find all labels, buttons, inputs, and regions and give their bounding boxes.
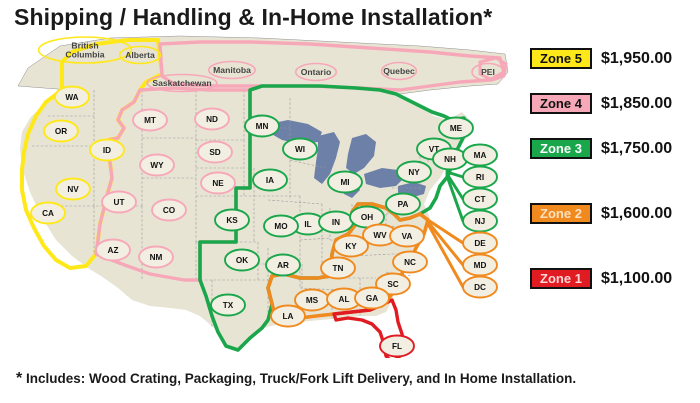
- state-label-ga: GA: [355, 288, 389, 309]
- callout-label-group: MARICTNJDEMDDC: [463, 145, 497, 298]
- state-abbr-label: NE: [212, 179, 224, 188]
- callout-label-dc: DC: [463, 277, 497, 298]
- state-abbr-label: ND: [206, 115, 218, 124]
- state-abbr-label: IN: [332, 218, 340, 227]
- state-abbr-label: MA: [474, 151, 487, 160]
- callout-label-nj: NJ: [463, 211, 497, 232]
- state-abbr-label: VA: [402, 232, 413, 241]
- state-label-ne: NE: [201, 173, 235, 194]
- state-abbr-label: NY: [408, 168, 420, 177]
- state-abbr-label: ME: [450, 124, 463, 133]
- state-label-ok: OK: [225, 250, 259, 271]
- state-label-wi: WI: [283, 139, 317, 160]
- province-name-label: Quebec: [383, 66, 415, 76]
- state-abbr-label: TX: [223, 301, 234, 310]
- state-label-ks: KS: [215, 210, 249, 231]
- state-abbr-label: AZ: [108, 246, 119, 255]
- footnote-asterisk: *: [16, 370, 22, 387]
- state-label-in: IN: [319, 212, 353, 233]
- footnote: * Includes: Wood Crating, Packaging, Tru…: [16, 370, 576, 388]
- zone-price: $1,600.00: [601, 205, 672, 223]
- zone-swatch: Zone 1: [530, 268, 592, 289]
- callout-label-ct: CT: [463, 189, 497, 210]
- province-name-label: Ontario: [301, 67, 332, 77]
- footnote-text: Includes: Wood Crating, Packaging, Truck…: [26, 371, 576, 386]
- state-abbr-label: OR: [55, 127, 67, 136]
- zone-swatch: Zone 5: [530, 48, 592, 69]
- legend-row: Zone 3$1,750.00: [530, 138, 672, 159]
- callout-label-md: MD: [463, 255, 497, 276]
- state-abbr-label: MD: [474, 261, 487, 270]
- legend-row: Zone 1$1,100.00: [530, 268, 672, 289]
- province-name-label: PEI: [481, 67, 495, 77]
- province-name-label: Alberta: [125, 50, 155, 60]
- state-abbr-label: CT: [475, 195, 486, 204]
- state-label-ky: KY: [334, 236, 368, 257]
- state-abbr-label: OK: [236, 256, 248, 265]
- zone-price-legend: Zone 5$1,950.00Zone 4$1,850.00Zone 3$1,7…: [530, 40, 700, 310]
- state-label-az: AZ: [96, 240, 130, 261]
- shipping-zone-map: WAORIDNVCAMTWYUTCOAZNMNDSDNEMNWIMIIAILIN…: [0, 28, 520, 358]
- state-label-va: VA: [390, 226, 424, 247]
- state-label-wy: WY: [140, 155, 174, 176]
- legend-row: Zone 5$1,950.00: [530, 48, 672, 69]
- zone-price: $1,100.00: [601, 270, 672, 288]
- state-abbr-label: NM: [150, 253, 163, 262]
- state-abbr-label: PA: [398, 200, 409, 209]
- state-label-nh: NH: [433, 149, 467, 170]
- state-abbr-label: AR: [277, 261, 289, 270]
- zone-price: $1,950.00: [601, 50, 672, 68]
- province-name-label: Manitoba: [213, 65, 251, 75]
- state-label-ca: CA: [31, 203, 65, 224]
- state-abbr-label: AL: [339, 295, 350, 304]
- state-label-ia: IA: [253, 170, 287, 191]
- state-abbr-label: NH: [444, 155, 456, 164]
- state-label-me: ME: [439, 118, 473, 139]
- zone-price: $1,850.00: [601, 95, 672, 113]
- callout-label-ri: RI: [463, 167, 497, 188]
- state-abbr-label: TN: [333, 264, 344, 273]
- state-abbr-label: MT: [144, 116, 156, 125]
- state-label-mn: MN: [245, 116, 279, 137]
- state-label-id: ID: [90, 140, 124, 161]
- state-abbr-label: MN: [256, 122, 269, 131]
- state-label-or: OR: [44, 121, 78, 142]
- state-abbr-label: MI: [340, 178, 349, 187]
- zone-swatch: Zone 3: [530, 138, 592, 159]
- zone-price: $1,750.00: [601, 140, 672, 158]
- province-name-label: Columbia: [65, 50, 104, 60]
- state-abbr-label: NC: [404, 258, 416, 267]
- callout-leader-line: [428, 224, 463, 287]
- state-abbr-label: DC: [474, 283, 486, 292]
- province-name-label: Saskatchewan: [152, 78, 211, 88]
- state-abbr-label: CO: [163, 206, 176, 215]
- state-abbr-label: OH: [361, 213, 373, 222]
- state-abbr-label: RI: [476, 173, 484, 182]
- state-abbr-label: MO: [274, 222, 288, 231]
- state-label-la: LA: [271, 306, 305, 327]
- legend-row: Zone 4$1,850.00: [530, 93, 672, 114]
- callout-leader-line: [447, 176, 463, 221]
- state-label-tn: TN: [321, 258, 355, 279]
- state-abbr-label: KY: [345, 242, 357, 251]
- state-label-pa: PA: [386, 194, 420, 215]
- state-abbr-label: LA: [283, 312, 294, 321]
- state-abbr-label: UT: [114, 198, 125, 207]
- state-label-nd: ND: [195, 109, 229, 130]
- state-abbr-label: SC: [387, 280, 398, 289]
- callout-label-de: DE: [463, 233, 497, 254]
- state-abbr-label: ID: [103, 146, 111, 155]
- state-label-mt: MT: [133, 110, 167, 131]
- state-abbr-label: KS: [226, 216, 238, 225]
- state-abbr-label: IA: [266, 176, 274, 185]
- state-abbr-label: NJ: [475, 217, 485, 226]
- state-label-nv: NV: [56, 179, 90, 200]
- state-abbr-label: NV: [67, 185, 79, 194]
- state-abbr-label: WY: [150, 161, 164, 170]
- state-label-ar: AR: [266, 255, 300, 276]
- state-abbr-label: SD: [209, 148, 220, 157]
- state-label-wa: WA: [55, 87, 89, 108]
- state-abbr-label: IL: [304, 220, 311, 229]
- state-abbr-label: WV: [373, 231, 387, 240]
- state-abbr-label: MS: [306, 296, 319, 305]
- map-svg: WAORIDNVCAMTWYUTCOAZNMNDSDNEMNWIMIIAILIN…: [0, 28, 520, 358]
- state-abbr-label: CA: [42, 209, 54, 218]
- state-label-ms: MS: [295, 290, 329, 311]
- state-abbr-label: WA: [65, 93, 78, 102]
- state-abbr-label: WI: [295, 145, 305, 154]
- legend-row: Zone 2$1,600.00: [530, 203, 672, 224]
- state-label-tx: TX: [211, 295, 245, 316]
- state-abbr-label: DE: [474, 239, 486, 248]
- state-label-nm: NM: [139, 247, 173, 268]
- state-label-mo: MO: [264, 216, 298, 237]
- state-label-mi: MI: [328, 172, 362, 193]
- state-label-ut: UT: [102, 192, 136, 213]
- state-label-co: CO: [152, 200, 186, 221]
- state-abbr-label: GA: [366, 294, 378, 303]
- state-label-nc: NC: [393, 252, 427, 273]
- callout-label-ma: MA: [463, 145, 497, 166]
- state-label-sd: SD: [198, 142, 232, 163]
- state-abbr-label: FL: [392, 342, 402, 351]
- zone-swatch: Zone 4: [530, 93, 592, 114]
- state-label-fl: FL: [380, 336, 414, 357]
- zone-swatch: Zone 2: [530, 203, 592, 224]
- state-label-ny: NY: [397, 162, 431, 183]
- page-title: Shipping / Handling & In-Home Installati…: [14, 4, 492, 31]
